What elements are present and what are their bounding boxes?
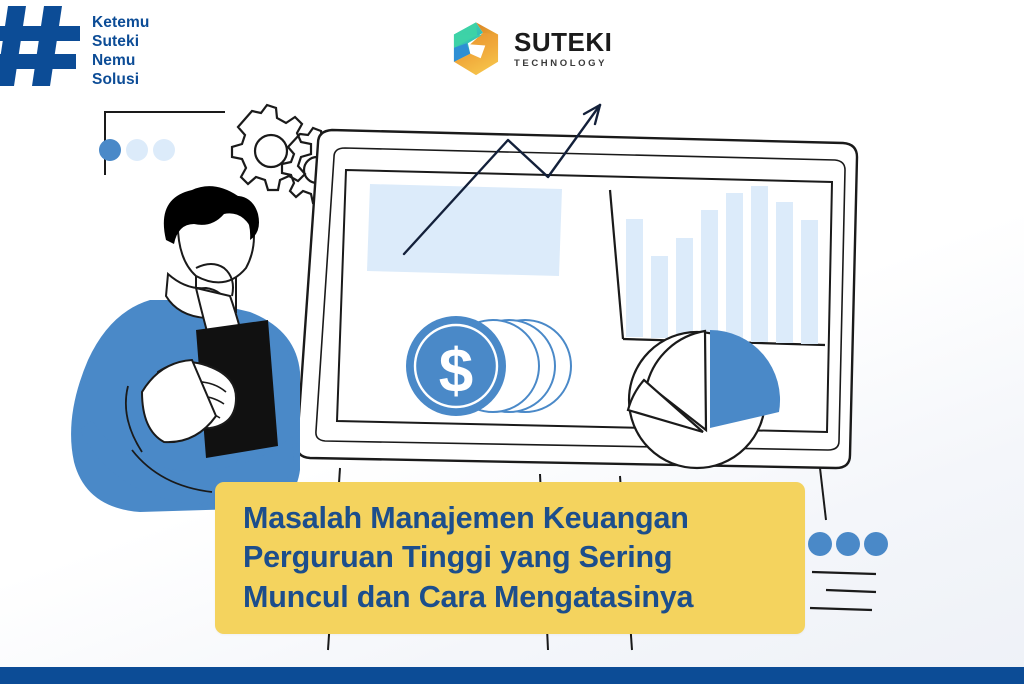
dot-group-left — [99, 139, 175, 161]
title-banner: Masalah Manajemen Keuangan Perguruan Tin… — [215, 482, 805, 634]
page-title: Masalah Manajemen Keuangan Perguruan Tin… — [243, 499, 693, 618]
footer-bar — [0, 667, 1024, 684]
coin-stack-icon: $ — [406, 316, 571, 416]
screen-panel — [367, 184, 562, 276]
dot-group-right — [808, 532, 888, 556]
thinking-person-with-tablet — [71, 186, 300, 512]
line-group-right — [810, 572, 876, 610]
dashboard-monitor — [297, 130, 857, 468]
gear-icon-large — [232, 105, 311, 190]
poster-canvas: Ketemu Suteki Nemu Solusi — [0, 0, 1024, 684]
dollar-sign-icon: $ — [439, 337, 473, 406]
